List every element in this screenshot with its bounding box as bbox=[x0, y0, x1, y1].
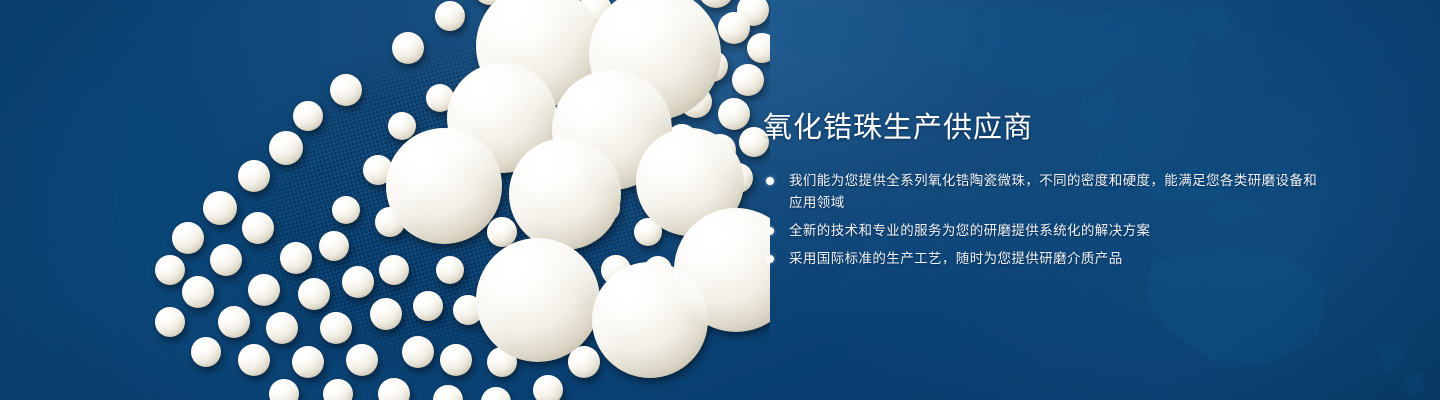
page-title: 氧化锆珠生产供应商 bbox=[763, 108, 1323, 148]
feature-list: 我们能为您提供全系列氧化锆陶瓷微珠，不同的密度和硬度，能满足您各类研磨设备和应用… bbox=[763, 170, 1323, 270]
feature-text: 采用国际标准的生产工艺，随时为您提供研磨介质产品 bbox=[789, 251, 1123, 266]
list-item: 采用国际标准的生产工艺，随时为您提供研磨介质产品 bbox=[763, 248, 1323, 270]
bullet-dot-icon bbox=[766, 177, 774, 185]
hero-banner: 氧化锆珠生产供应商 我们能为您提供全系列氧化锆陶瓷微珠，不同的密度和硬度，能满足… bbox=[0, 0, 1440, 400]
zirconia-beads-illustration bbox=[150, 0, 770, 400]
bullet-dot-icon bbox=[766, 227, 774, 235]
list-item: 全新的技术和专业的服务为您的研磨提供系统化的解决方案 bbox=[763, 220, 1323, 242]
feature-text: 全新的技术和专业的服务为您的研磨提供系统化的解决方案 bbox=[789, 223, 1150, 238]
banner-copy: 氧化锆珠生产供应商 我们能为您提供全系列氧化锆陶瓷微珠，不同的密度和硬度，能满足… bbox=[763, 108, 1323, 270]
feature-text: 我们能为您提供全系列氧化锆陶瓷微珠，不同的密度和硬度，能满足您各类研磨设备和应用… bbox=[789, 173, 1317, 210]
product-image-beads bbox=[150, 0, 770, 400]
bullet-dot-icon bbox=[766, 255, 774, 263]
list-item: 我们能为您提供全系列氧化锆陶瓷微珠，不同的密度和硬度，能满足您各类研磨设备和应用… bbox=[763, 170, 1323, 214]
